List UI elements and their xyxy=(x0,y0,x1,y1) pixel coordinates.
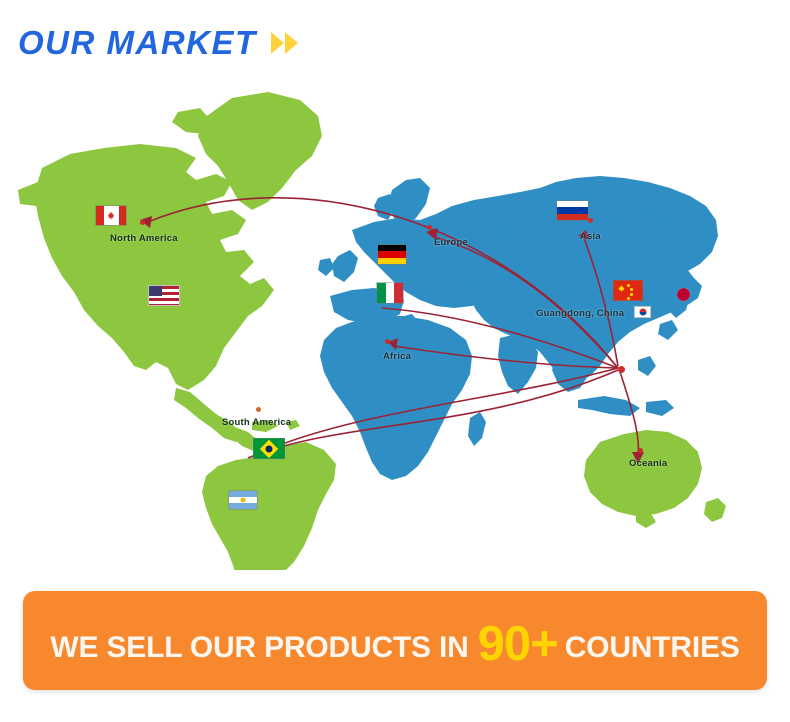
banner-highlight-count: 90+ xyxy=(478,616,558,672)
map-label-north-america: North America xyxy=(110,233,178,244)
marker-dot-europe xyxy=(427,225,432,230)
map-label-guangdong-china: Guangdong, China xyxy=(536,308,624,319)
banner-prefix: WE SELL OUR PRODUCTS IN xyxy=(50,631,468,665)
market-reach-banner: WE SELL OUR PRODUCTS IN 90+ COUNTRIES xyxy=(23,591,767,690)
double-chevron-right-icon xyxy=(271,32,298,54)
marker-dot-origin-china xyxy=(618,366,625,373)
flag-germany xyxy=(377,244,407,265)
flag-brazil xyxy=(253,438,285,459)
flag-italy xyxy=(376,282,404,304)
flag-united-states xyxy=(148,285,180,306)
map-label-europe: Europe xyxy=(434,237,468,248)
marker-dot-south-america xyxy=(256,407,261,412)
banner-suffix: COUNTRIES xyxy=(565,631,740,665)
flag-japan xyxy=(677,288,690,301)
world-market-map: .g { fill:#8dc63f; } .b { fill:#2f8fc4; … xyxy=(0,70,790,570)
marker-dot-north-america xyxy=(140,220,145,225)
world-map-graphic: .g { fill:#8dc63f; } .b { fill:#2f8fc4; … xyxy=(0,70,790,570)
map-label-africa: Africa xyxy=(383,351,411,362)
map-label-oceania: Oceania xyxy=(629,458,667,469)
marker-dot-africa xyxy=(385,339,390,344)
flag-argentina xyxy=(228,490,258,510)
map-label-south-america: South America xyxy=(222,417,291,428)
flag-south-korea xyxy=(634,306,651,318)
flag-china xyxy=(613,280,643,301)
page-header: OUR MARKET xyxy=(18,18,418,66)
marker-dot-oceania xyxy=(638,448,643,453)
banner-text: WE SELL OUR PRODUCTS IN 90+ COUNTRIES xyxy=(50,613,739,669)
page-title: OUR MARKET xyxy=(18,26,257,59)
flag-canada xyxy=(95,205,127,226)
flag-russia xyxy=(556,200,589,221)
map-label-asia: Asia xyxy=(580,231,601,242)
